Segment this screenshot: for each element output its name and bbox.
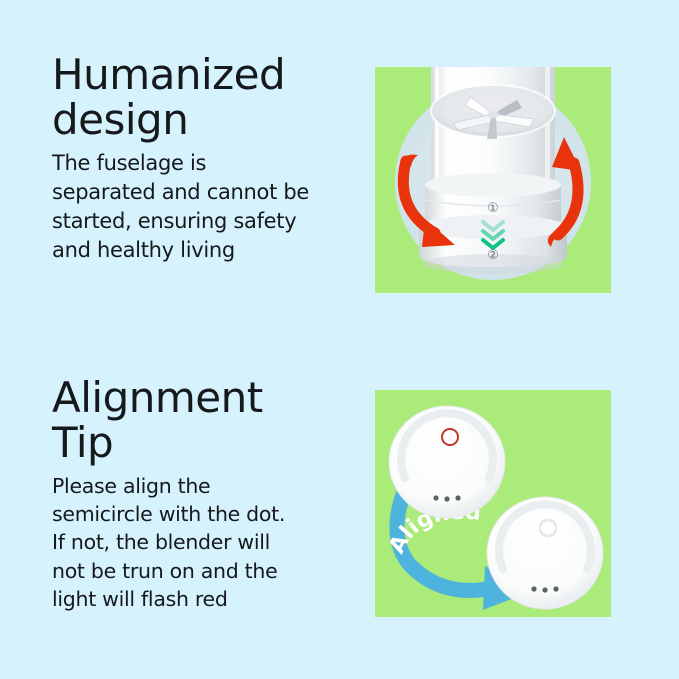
heading-line-2: design bbox=[52, 95, 188, 144]
body-line-3: started, ensuring safety bbox=[52, 209, 296, 233]
blender-separation-illustration: ① ② bbox=[375, 67, 611, 293]
collar-top bbox=[425, 173, 561, 197]
heading-line-2: Tip bbox=[52, 418, 113, 467]
body-line-4: not be trun on and the bbox=[52, 559, 277, 583]
section-humanized-design-text: Humanizeddesign The fuselage isseparated… bbox=[52, 52, 370, 265]
body-line-2: separated and cannot be bbox=[52, 180, 309, 204]
infographic-page: Humanizeddesign The fuselage isseparated… bbox=[0, 0, 679, 679]
alignment-illustration: Aligned bbox=[375, 390, 611, 617]
body-line-1: The fuselage is bbox=[52, 151, 206, 175]
body-line-3: If not, the blender will bbox=[52, 530, 270, 554]
body-line-2: semicircle with the dot. bbox=[52, 502, 285, 526]
heading-line-1: Humanized bbox=[52, 50, 285, 99]
section-alignment-tip-text: AlignmentTip Please align thesemicircle … bbox=[52, 375, 370, 613]
marker-label-1: ① bbox=[487, 201, 499, 216]
misaligned-disc bbox=[389, 406, 505, 518]
page-title-alignment-tip: AlignmentTip bbox=[52, 375, 370, 466]
body-text-alignment-tip: Please align thesemicircle with the dot.… bbox=[52, 472, 370, 613]
body-line-5: light will flash red bbox=[52, 587, 228, 611]
aligned-disc bbox=[487, 497, 603, 609]
marker-label-2: ② bbox=[487, 248, 499, 263]
body-line-1: Please align the bbox=[52, 474, 210, 498]
body-line-4: and healthy living bbox=[52, 238, 235, 262]
blade-hub bbox=[487, 112, 499, 119]
illustration-panel-blender-separation: ① ② bbox=[375, 67, 611, 293]
body-text-humanized-design: The fuselage isseparated and cannot best… bbox=[52, 149, 370, 265]
illustration-panel-alignment: Aligned bbox=[375, 390, 611, 617]
heading-line-1: Alignment bbox=[52, 373, 263, 422]
page-title-humanized-design: Humanizeddesign bbox=[52, 52, 370, 143]
